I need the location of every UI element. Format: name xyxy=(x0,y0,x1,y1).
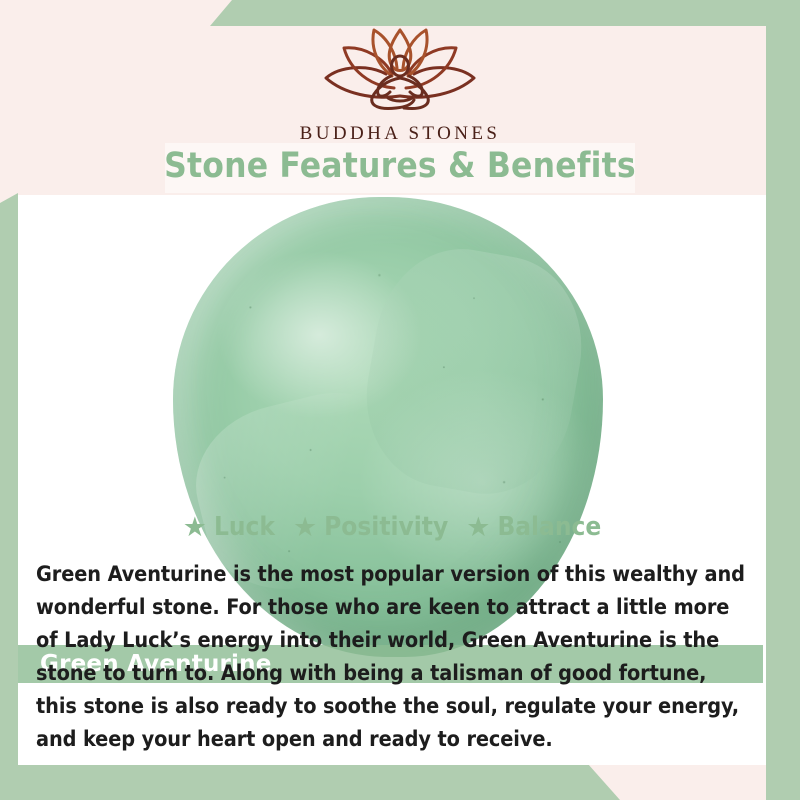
feature-label-positivity: Positivity xyxy=(324,512,448,542)
product-info-poster: BUDDHA STONES Stone Features & Benefits … xyxy=(0,0,800,800)
feature-list: ★ Luck ★ Positivity ★ Balance xyxy=(18,505,766,549)
poster-content: ★ Luck ★ Positivity ★ Balance Green Aven… xyxy=(18,505,766,756)
decorative-band-bottom xyxy=(0,764,800,800)
decorative-band-left xyxy=(0,193,18,800)
feature-label-balance: Balance xyxy=(497,512,601,542)
star-icon: ★ xyxy=(466,514,490,541)
poster-header: BUDDHA STONES Stone Features & Benefits xyxy=(0,0,800,195)
page-title: Stone Features & Benefits xyxy=(0,140,800,192)
feature-label-luck: Luck xyxy=(214,512,275,542)
lotus-meditation-icon xyxy=(0,22,800,119)
feature-item-positivity: ★ Positivity xyxy=(293,512,448,542)
feature-item-balance: ★ Balance xyxy=(466,512,601,542)
stone-description: Green Aventurine is the most popular ver… xyxy=(36,558,748,756)
brand-logo: BUDDHA STONES xyxy=(0,22,800,145)
star-icon: ★ xyxy=(293,514,317,541)
star-icon: ★ xyxy=(183,514,207,541)
feature-item-luck: ★ Luck xyxy=(183,512,275,542)
